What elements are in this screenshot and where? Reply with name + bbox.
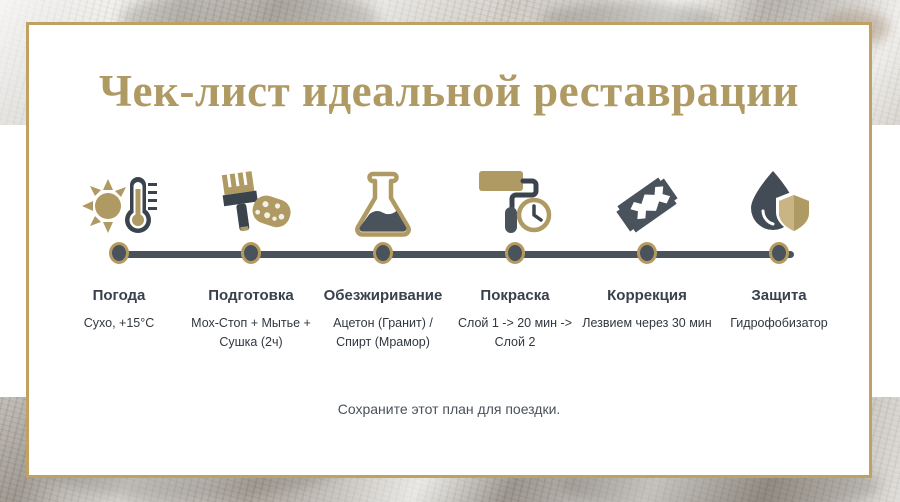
timeline-dot[interactable] <box>109 242 129 264</box>
droplet-shield-icon <box>744 155 814 237</box>
paint-roller-clock-icon <box>477 155 553 237</box>
restoration-timeline: Погода Сухо, +15°C <box>29 155 869 385</box>
timeline-dot[interactable] <box>241 242 261 264</box>
timeline-step-correction[interactable]: Коррекция Лезвием через 30 мин <box>581 155 713 333</box>
step-detail: Слой 1 -> 20 мин -> Слой 2 <box>450 314 580 353</box>
step-label: Покраска <box>480 287 549 304</box>
timeline-dot[interactable] <box>373 242 393 264</box>
step-detail: Мох-Стоп + Мытье + Сушка (2ч) <box>186 314 316 353</box>
step-label: Защита <box>751 287 806 304</box>
timeline-dot[interactable] <box>637 242 657 264</box>
poster: Чек-лист идеальной реставрации <box>0 0 900 502</box>
footer-note: Сохраните этот план для поездки. <box>29 401 869 417</box>
step-label: Обезжиривание <box>324 287 443 304</box>
checklist-card: Чек-лист идеальной реставрации <box>26 22 872 478</box>
timeline-dot[interactable] <box>769 242 789 264</box>
step-label: Коррекция <box>607 287 687 304</box>
timeline-step-weather[interactable]: Погода Сухо, +15°C <box>53 155 185 333</box>
timeline-step-painting[interactable]: Покраска Слой 1 -> 20 мин -> Слой 2 <box>449 155 581 353</box>
timeline-step-preparation[interactable]: Подготовка Мох-Стоп + Мытье + Сушка (2ч) <box>185 155 317 353</box>
flask-icon <box>352 155 414 237</box>
step-label: Подготовка <box>208 287 294 304</box>
timeline-steps: Погода Сухо, +15°C <box>29 155 869 385</box>
timeline-step-degreasing[interactable]: Обезжиривание Ацетон (Гранит) / Спирт (М… <box>317 155 449 353</box>
brush-sponge-icon <box>210 155 292 237</box>
step-detail: Сухо, +15°C <box>54 314 184 333</box>
sun-thermometer-icon <box>80 155 158 237</box>
step-detail: Гидрофобизатор <box>714 314 844 333</box>
step-detail: Лезвием через 30 мин <box>582 314 712 333</box>
timeline-step-protection[interactable]: Защита Гидрофобизатор <box>713 155 845 333</box>
page-title: Чек-лист идеальной реставрации <box>29 65 869 117</box>
timeline-dot[interactable] <box>505 242 525 264</box>
step-detail: Ацетон (Гранит) / Спирт (Мрамор) <box>318 314 448 353</box>
step-label: Погода <box>93 287 146 304</box>
razor-blade-icon <box>613 155 681 237</box>
